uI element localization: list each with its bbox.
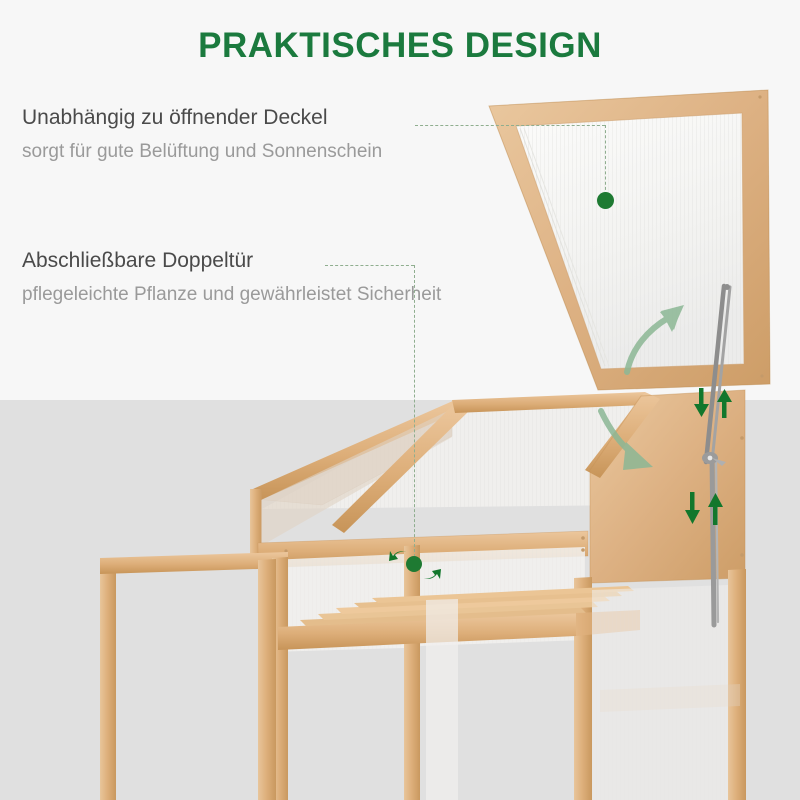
- callout-door-heading: Abschließbare Doppeltür: [22, 249, 441, 273]
- page-title: PRAKTISCHES DESIGN: [0, 26, 800, 66]
- marker-dot-lid: [597, 192, 614, 209]
- infographic-canvas: PRAKTISCHES DESIGN Unabhängig zu öffnend…: [0, 0, 800, 800]
- leader-door-vertical: [414, 265, 415, 557]
- leader-lid-vertical: [605, 125, 606, 195]
- marker-dot-door: [406, 556, 422, 572]
- callout-lid-heading: Unabhängig zu öffnender Deckel: [22, 106, 382, 130]
- lid-panel: [489, 90, 770, 390]
- callout-lid-subtext: sorgt für gute Belüftung und Sonnenschei…: [22, 139, 382, 165]
- callout-door-subtext: pflegeleichte Pflanze und gewährleistet …: [22, 282, 441, 308]
- callout-door: Abschließbare Doppeltür pflegeleichte Pf…: [22, 249, 441, 308]
- leader-lid-horizontal: [415, 125, 605, 126]
- callout-lid: Unabhängig zu öffnender Deckel sorgt für…: [22, 106, 382, 165]
- leader-door-horizontal: [325, 265, 414, 266]
